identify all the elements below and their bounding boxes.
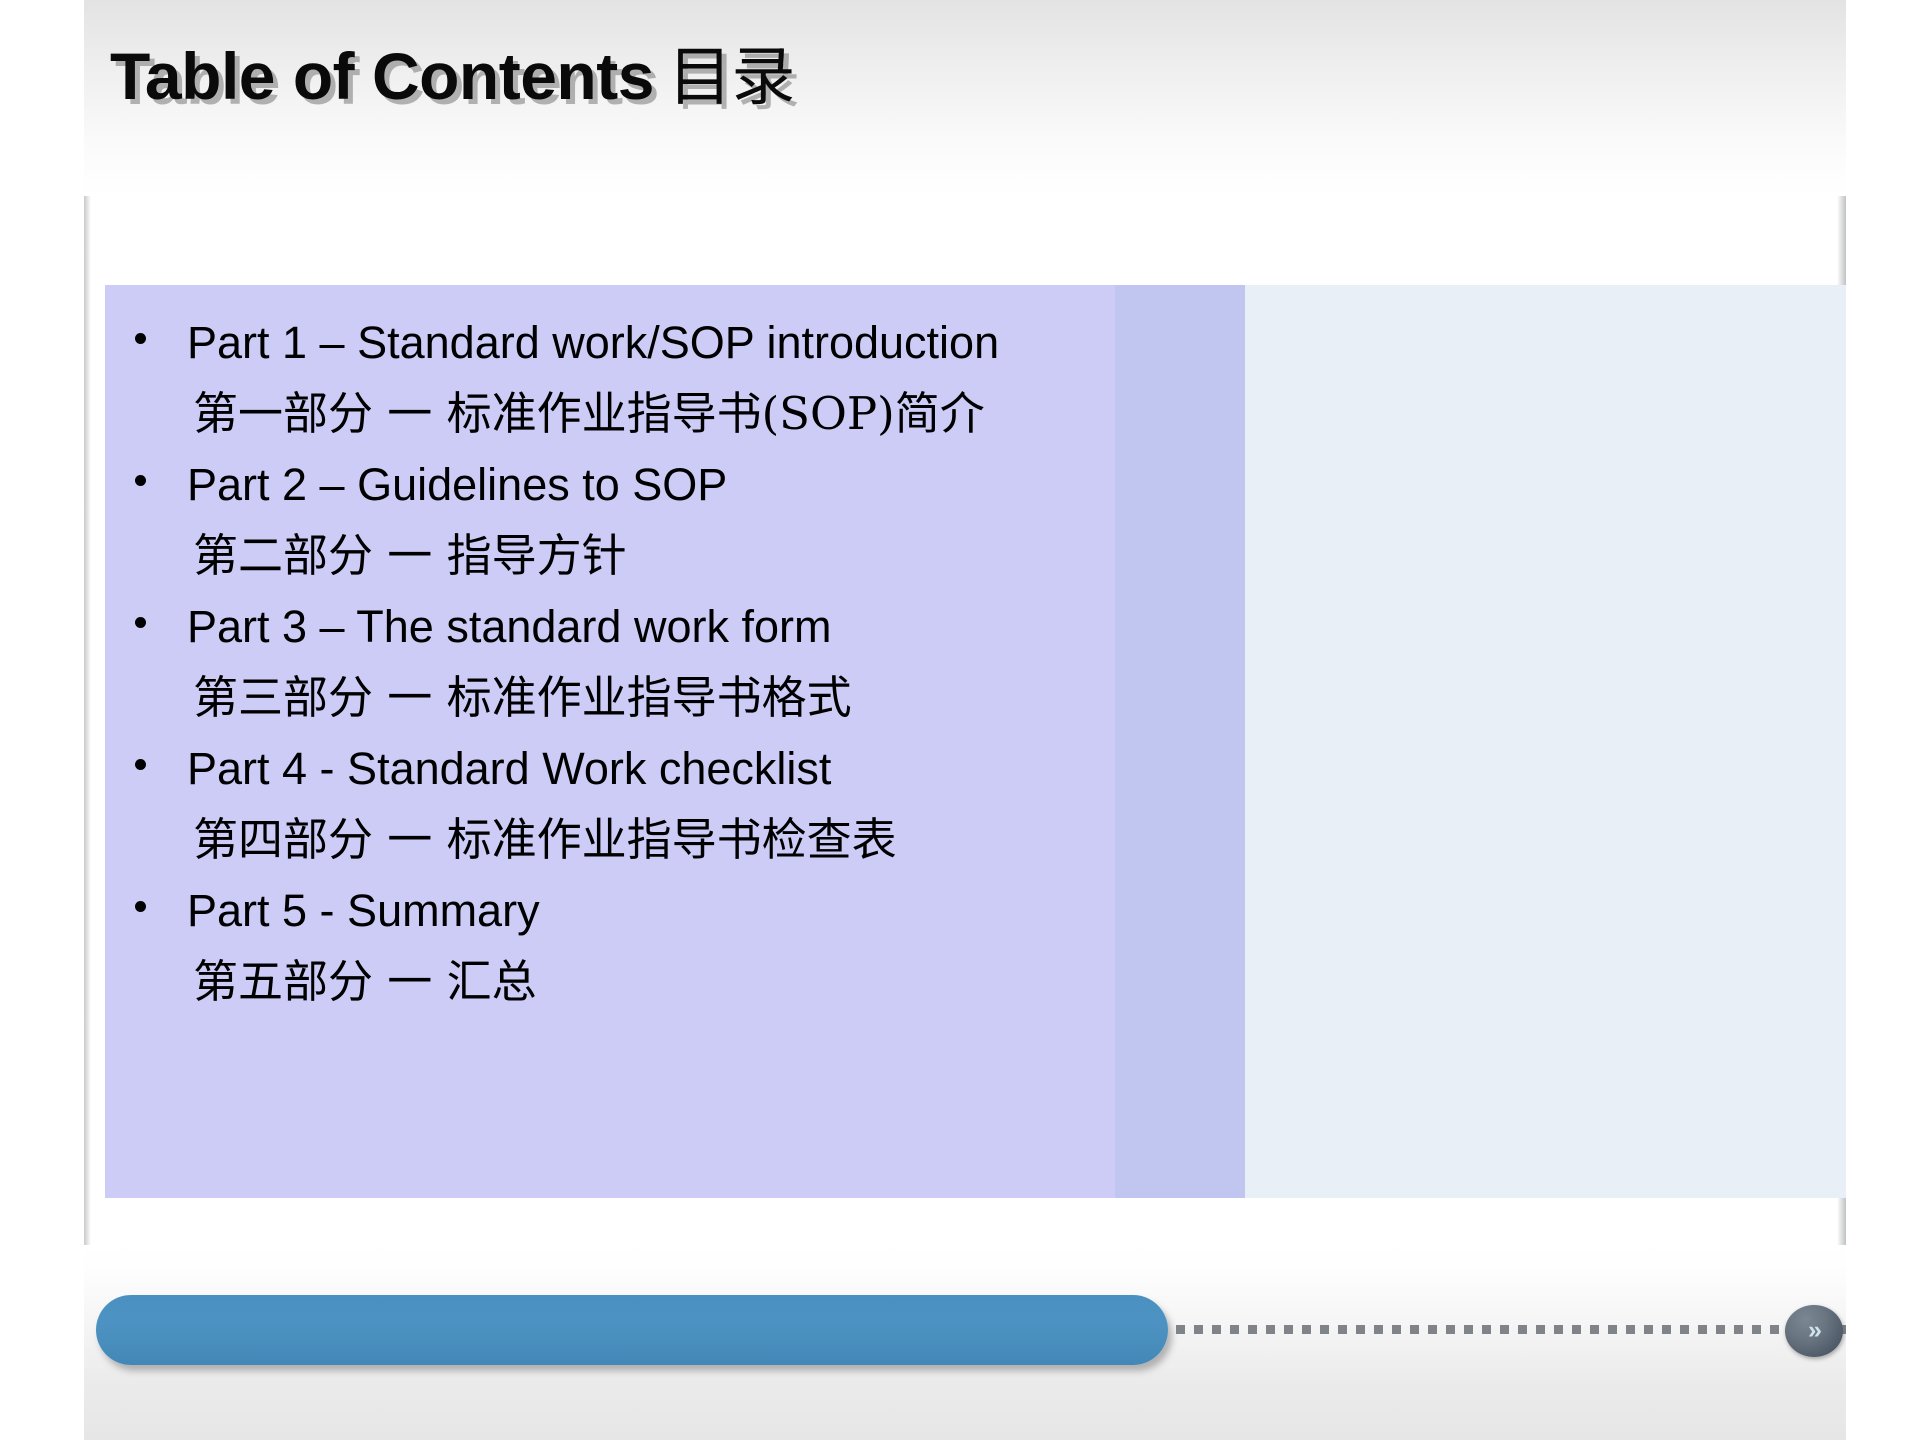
page-title: Table of Contents目录 bbox=[110, 26, 795, 118]
table-of-contents-list: Part 1 – Standard work/SOP introduction … bbox=[105, 285, 1245, 1017]
toc-item-chinese: 第三部分 一 标准作业指导书格式 bbox=[187, 662, 1245, 733]
bullet-dot-icon bbox=[135, 475, 146, 486]
bullet-dot-icon bbox=[135, 333, 146, 344]
page-title-english: Table of Contents bbox=[110, 39, 654, 113]
page-title-chinese: 目录 bbox=[654, 41, 795, 115]
list-item[interactable]: Part 3 – The standard work form 第三部分 一 标… bbox=[105, 591, 1245, 733]
slide-footer: » bbox=[84, 1245, 1846, 1440]
progress-bar[interactable] bbox=[96, 1295, 1168, 1365]
progress-dotted-track bbox=[1176, 1325, 1846, 1334]
list-item[interactable]: Part 5 - Summary 第五部分 一 汇总 bbox=[105, 875, 1245, 1017]
list-item[interactable]: Part 4 - Standard Work checklist 第四部分 一 … bbox=[105, 733, 1245, 875]
slide-header: Table of Contents目录 bbox=[84, 0, 1846, 196]
list-item[interactable]: Part 1 – Standard work/SOP introduction … bbox=[105, 307, 1245, 449]
content-area: Part 1 – Standard work/SOP introduction … bbox=[105, 285, 1846, 1198]
toc-item-chinese: 第一部分 一 标准作业指导书(SOP)简介 bbox=[187, 378, 1245, 449]
toc-item-chinese: 第四部分 一 标准作业指导书检查表 bbox=[187, 804, 1245, 875]
toc-item-chinese: 第五部分 一 汇总 bbox=[187, 946, 1245, 1017]
slide-left-edge-shadow bbox=[84, 0, 91, 1440]
toc-item-english: Part 2 – Guidelines to SOP bbox=[187, 449, 1245, 520]
bullet-dot-icon bbox=[135, 759, 146, 770]
double-chevron-right-icon: » bbox=[1808, 1318, 1820, 1343]
toc-item-english: Part 3 – The standard work form bbox=[187, 591, 1245, 662]
next-slide-button[interactable]: » bbox=[1785, 1305, 1843, 1357]
bullet-dot-icon bbox=[135, 617, 146, 628]
toc-item-english: Part 4 - Standard Work checklist bbox=[187, 733, 1245, 804]
toc-item-english: Part 1 – Standard work/SOP introduction bbox=[187, 307, 1245, 378]
toc-item-chinese: 第二部分 一 指导方针 bbox=[187, 520, 1245, 591]
list-item[interactable]: Part 2 – Guidelines to SOP 第二部分 一 指导方针 bbox=[105, 449, 1245, 591]
slide-canvas: Table of Contents目录 Part 1 – Standard wo… bbox=[84, 0, 1846, 1440]
toc-item-english: Part 5 - Summary bbox=[187, 875, 1245, 946]
bullet-dot-icon bbox=[135, 901, 146, 912]
